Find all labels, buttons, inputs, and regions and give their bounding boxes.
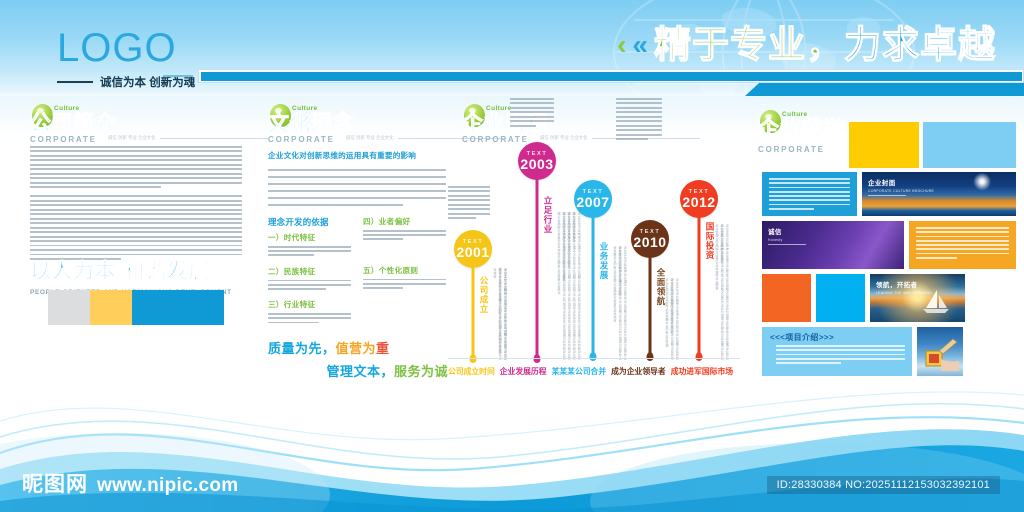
timeline-vtext: 企业文化企业精神企业理念企业形象企业战略企业愿景企业价值观企业使命企业发展企业创… bbox=[718, 224, 729, 360]
honor-card-orange-text[interactable] bbox=[909, 221, 1016, 269]
timeline-pin-2010[interactable]: TEXT 2010 全面领航 bbox=[631, 220, 669, 258]
timeline-pin-2007[interactable]: TEXT 2007 业务发展 bbox=[574, 180, 612, 218]
section-title: 公司简介 bbox=[30, 112, 116, 134]
culture-item-label: 五）个性化原则 bbox=[363, 265, 446, 276]
timeline-year: 2003 bbox=[520, 157, 553, 171]
honor-row-1: 企业封面 CORPORATE CULTURE BROCHURE bbox=[762, 172, 1016, 216]
section-header-culture: Culture 文化理念 CORPORATE 诚信 创新 专业 企业文化 bbox=[268, 112, 354, 144]
timeline-caption: 成功进军国际市场 bbox=[671, 366, 733, 377]
timeline-pin-2012[interactable]: TEXT 2012 国际投资 bbox=[680, 180, 718, 218]
company-color-blocks bbox=[48, 290, 224, 325]
timeline: 企业文化企业精神企业理念企业形象企业战略企业愿景企业价值观企业使命企业发展企业创… bbox=[448, 150, 743, 390]
hand-writing-icon bbox=[923, 337, 959, 371]
section-tiny-rule bbox=[160, 138, 268, 139]
honor-swatch-cyan[interactable] bbox=[816, 274, 865, 322]
color-block-blue bbox=[132, 290, 224, 325]
timeline-caption: 企业发展历程 bbox=[500, 366, 547, 377]
motto-part: 质量为先， bbox=[268, 341, 336, 356]
timeline-year: 2012 bbox=[682, 195, 715, 209]
culture-item-label: 四）业者偏好 bbox=[363, 216, 446, 227]
timeline-vtext: 企业文化企业精神企业理念企业形象企业战略企业愿景企业价值观企业使命企业发展企业创… bbox=[668, 278, 679, 360]
sailboat-icon bbox=[921, 289, 951, 315]
footer-id-badge: ID:28330384 NO:20251112153032392101 bbox=[767, 476, 1000, 494]
timeline-caption: 成为企业领导者 bbox=[611, 366, 666, 377]
honor-swatch-orange[interactable] bbox=[762, 274, 811, 322]
timeline-ball: TEXT 2012 bbox=[680, 180, 718, 218]
culture-list-title: 理念开发的依据 bbox=[268, 216, 351, 228]
honor-caption-cn: 领航，开拓者 bbox=[876, 279, 932, 289]
timeline-vertical-label: 公司成立 bbox=[478, 276, 490, 314]
section-title: 企业荣誉 bbox=[758, 118, 844, 140]
timeline-year: 2010 bbox=[633, 235, 666, 249]
honor-caption-en: Honesty bbox=[768, 238, 806, 242]
honor-card-hand-image[interactable] bbox=[917, 327, 963, 376]
timeline-stem bbox=[472, 266, 475, 358]
culture-motto: 质量为先，值营为重 管理文本，服务为诚 bbox=[268, 338, 448, 380]
panel-culture: Culture 文化理念 CORPORATE 诚信 创新 专业 企业文化 企业文… bbox=[268, 112, 446, 211]
section-tiny-row: 诚信 创新 专业 企业文化 bbox=[108, 135, 268, 141]
honor-row-2: 诚信 Honesty bbox=[762, 221, 1016, 269]
section-tiny-text: 诚信 创新 专业 企业文化 bbox=[540, 135, 588, 141]
timeline-ball: TEXT 2003 bbox=[518, 142, 556, 180]
timeline-vertical-label: 全面领航 bbox=[655, 268, 667, 306]
culture-column-left: 理念开发的依据 一）时代特征 二）民族特征 三）行业特征 bbox=[268, 216, 351, 333]
header-accent-bar-fill bbox=[201, 72, 1022, 81]
timeline-stem bbox=[698, 216, 701, 356]
timeline-stem bbox=[592, 216, 595, 356]
timeline-year: 2001 bbox=[456, 245, 489, 259]
timeline-vertical-label: 国际投资 bbox=[704, 222, 716, 260]
section-title-text: 企业荣誉 bbox=[758, 118, 844, 140]
project-intro-text bbox=[776, 345, 905, 366]
slogan-text: 精于专业，力求卓越 bbox=[654, 25, 996, 65]
slogan-first-half: 精于专业， bbox=[654, 23, 844, 66]
section-tiny-text: 诚信 创新 专业 企业文化 bbox=[346, 135, 394, 141]
timeline-pin-2001[interactable]: TEXT 2001 公司成立 bbox=[454, 230, 492, 268]
timeline-ball: TEXT 2007 bbox=[574, 180, 612, 218]
culture-item-label: 二）民族特征 bbox=[268, 266, 351, 277]
footer-brand-cn: 昵图网 bbox=[22, 468, 88, 498]
timeline-stem bbox=[536, 178, 539, 358]
timeline-baseline bbox=[448, 358, 740, 359]
footer-brand-url: www.nipic.com bbox=[97, 475, 239, 497]
timeline-drop bbox=[590, 352, 597, 361]
honor-card-text bbox=[769, 178, 850, 212]
timeline-ball: TEXT 2001 bbox=[454, 230, 492, 268]
header-accent-bar bbox=[198, 69, 1024, 83]
honor-grid: 企业封面 CORPORATE CULTURE BROCHURE 诚信 Hones… bbox=[762, 148, 1016, 381]
culture-item-5: 五）个性化原则 bbox=[363, 265, 446, 292]
culture-item-label: 三）行业特征 bbox=[268, 299, 351, 310]
section-tiny-text: 诚信 创新 专业 企业文化 bbox=[108, 135, 156, 141]
honor-card-sunset-image[interactable]: 领航，开拓者 LEADING THE WAY FORWARD bbox=[870, 274, 965, 322]
project-intro-title: <<<项目介绍>>> bbox=[770, 332, 834, 343]
culture-motto-line1: 质量为先，值营为重 bbox=[268, 338, 448, 357]
culture-item-label: 一）时代特征 bbox=[268, 232, 351, 243]
timeline-year: 2007 bbox=[576, 195, 609, 209]
timeline-caption: 某某某公司合并 bbox=[552, 366, 607, 377]
timeline-vtext: 企业文化企业精神企业理念企业形象企业战略企业愿景企业价值观企业使命企业发展企业创… bbox=[616, 246, 627, 360]
culture-body-text bbox=[268, 169, 446, 211]
culture-column-right: 四）业者偏好 五）个性化原则 bbox=[363, 216, 446, 333]
tagline-rule-left bbox=[57, 81, 93, 83]
honor-caption-cn: 企业封面 bbox=[868, 177, 934, 187]
honor-caption-en: CORPORATE CULTURE BROCHURE bbox=[868, 189, 934, 193]
timeline-drop bbox=[696, 352, 703, 361]
company-body-text bbox=[30, 146, 242, 263]
honor-card-caption: 企业封面 CORPORATE CULTURE BROCHURE bbox=[868, 177, 934, 196]
timeline-caption: 公司成立时间 bbox=[448, 366, 495, 377]
timeline-vertical-label: 立足行业 bbox=[542, 196, 554, 234]
timeline-captions: 公司成立时间 企业发展历程 某某某公司合并 成为企业领导者 成功进军国际市场 bbox=[448, 366, 740, 377]
timeline-note-c bbox=[616, 98, 662, 143]
poster-canvas: LOGO 诚信为本 创新为魂 ‹ « 精于专业，力求卓越 Culture 公司简… bbox=[0, 0, 1024, 512]
motto-part: 重 bbox=[376, 341, 390, 356]
timeline-vtext: 企业文化企业精神企业理念企业形象企业战略企业愿景企业价值观企业使命企业发展企业创… bbox=[496, 268, 507, 360]
panel-company-intro: Culture 公司简介 CORPORATE 诚信 创新 专业 企业文化 bbox=[30, 112, 242, 263]
timeline-vtext: 企业文化企业精神企业理念企业形象企业战略企业愿景企业价值观企业使命企业发展企业创… bbox=[570, 212, 581, 360]
culture-item-4: 四）业者偏好 bbox=[363, 216, 446, 243]
section-title-en: CORPORATE bbox=[268, 135, 354, 144]
caption-underline bbox=[768, 244, 806, 245]
chevron-double-icon: « bbox=[632, 31, 648, 59]
honor-card-purple-image[interactable]: 诚信 Honesty bbox=[762, 221, 904, 269]
honor-card-night-image[interactable]: 企业封面 CORPORATE CULTURE BROCHURE bbox=[862, 172, 1016, 216]
timeline-stem bbox=[649, 256, 652, 356]
timeline-pin-2003[interactable]: TEXT 2003 立足行业 bbox=[518, 142, 556, 180]
color-block-gray bbox=[48, 290, 90, 325]
honor-card-caption: 诚信 Honesty bbox=[768, 226, 806, 245]
section-title-en: CORPORATE bbox=[30, 135, 116, 144]
motto-part: 值营为 bbox=[336, 341, 377, 356]
honor-card-text bbox=[916, 227, 1009, 261]
caption-underline bbox=[868, 195, 906, 196]
honor-caption-cn: 诚信 bbox=[768, 226, 806, 236]
header-slogan: ‹ « 精于专业，力求卓越 bbox=[617, 25, 996, 65]
culture-item-3: 三）行业特征 bbox=[268, 299, 351, 326]
timeline-drop bbox=[647, 352, 654, 361]
header-rule-left bbox=[163, 75, 193, 77]
timeline-note-a bbox=[448, 186, 490, 222]
section-header-company: Culture 公司简介 CORPORATE 诚信 创新 专业 企业文化 bbox=[30, 112, 116, 144]
footer-watermark: 昵图网 www.nipic.com bbox=[22, 468, 239, 498]
timeline-note-b bbox=[510, 98, 554, 129]
color-block-yellow bbox=[90, 290, 132, 325]
chevron-single-icon: ‹ bbox=[617, 31, 626, 59]
timeline-ball: TEXT 2010 bbox=[631, 220, 669, 258]
section-title: 文化理念 bbox=[268, 112, 354, 134]
culture-lead-text: 企业文化对创新思维的运用具有重要的影响 bbox=[268, 150, 446, 161]
slogan-second-half: 力求卓越 bbox=[844, 23, 996, 66]
header-accent-bar-tail bbox=[745, 83, 1024, 96]
honor-row-3: 领航，开拓者 LEADING THE WAY FORWARD bbox=[762, 274, 1016, 322]
culture-item-2: 二）民族特征 bbox=[268, 266, 351, 293]
honor-card-blue-text[interactable] bbox=[762, 172, 857, 216]
honor-card-project[interactable]: <<<项目介绍>>> bbox=[762, 327, 912, 376]
culture-columns: 理念开发的依据 一）时代特征 二）民族特征 三）行业特征 四）业者偏好 五）个性… bbox=[268, 216, 446, 333]
logo-text: LOGO bbox=[57, 28, 238, 68]
timeline-vertical-label: 业务发展 bbox=[598, 242, 610, 280]
culture-item-1: 一）时代特征 bbox=[268, 232, 351, 259]
honor-row-4: <<<项目介绍>>> bbox=[762, 327, 1016, 376]
company-slogan-cn: 以人为本 和谐发展 bbox=[30, 255, 245, 285]
